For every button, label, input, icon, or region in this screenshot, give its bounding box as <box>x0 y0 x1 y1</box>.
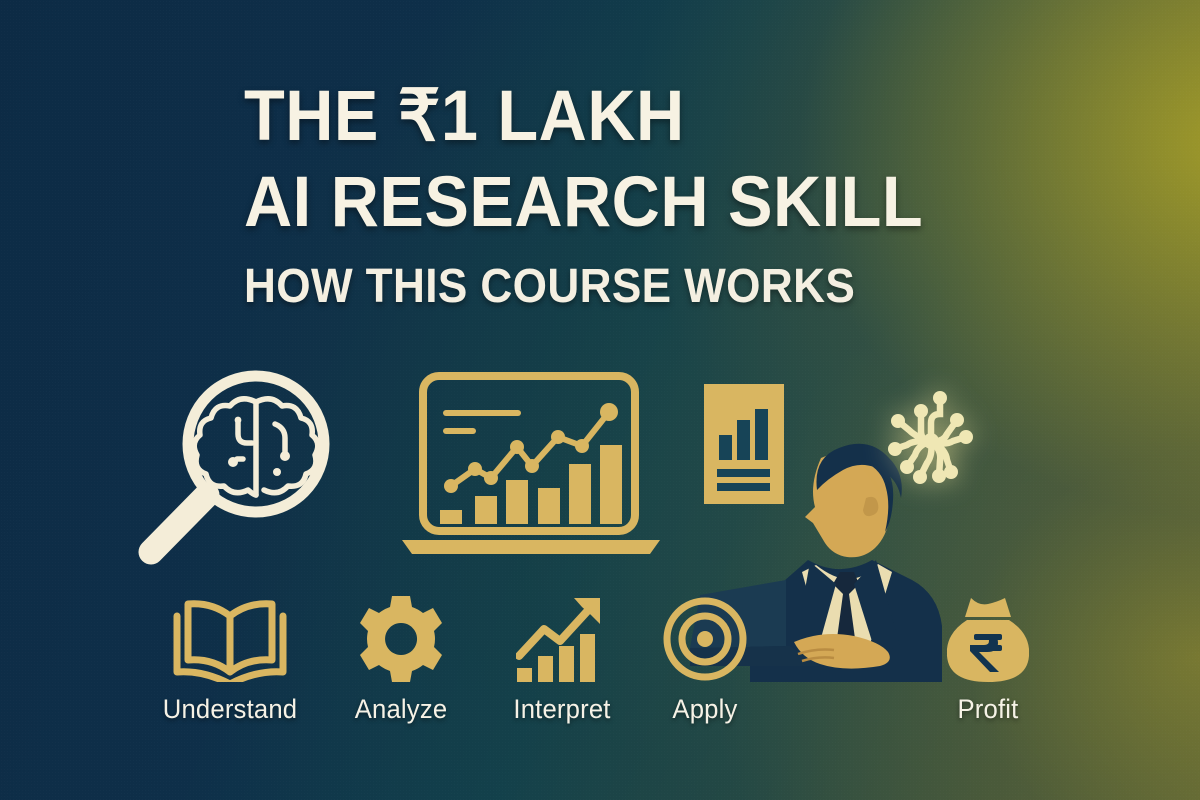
laptop-chart-icon <box>396 368 666 565</box>
step-item-understand[interactable]: Understand <box>145 596 315 725</box>
neural-net-icon <box>876 386 986 501</box>
step-item-profit[interactable]: Profit <box>903 596 1073 725</box>
poster-canvas: THE ₹1 LAKH AI RESEARCH SKILL HOW THIS C… <box>0 0 1200 800</box>
money-bag-rupee-icon <box>903 596 1073 682</box>
gear-icon <box>316 596 486 682</box>
report-doc-icon <box>703 383 785 510</box>
page-title-line-2: AI RESEARCH SKILL <box>244 168 923 238</box>
step-label-profit: Profit <box>907 694 1069 725</box>
step-item-apply[interactable]: Apply <box>620 596 790 725</box>
step-label-analyze: Analyze <box>320 694 482 725</box>
step-label-understand: Understand <box>149 694 311 725</box>
headline-block: THE ₹1 LAKH AI RESEARCH SKILL HOW THIS C… <box>244 82 967 314</box>
page-title-line-1: THE ₹1 LAKH <box>244 82 923 152</box>
open-book-icon <box>145 596 315 682</box>
page-subtitle: HOW THIS COURSE WORKS <box>244 259 909 314</box>
steps-row: Understand Analyze <box>0 596 1200 756</box>
target-icon <box>620 596 790 682</box>
step-label-apply: Apply <box>624 694 786 725</box>
step-item-analyze[interactable]: Analyze <box>316 596 486 725</box>
step-label-interpret: Interpret <box>481 694 643 725</box>
magnifier-brain-icon <box>125 362 345 572</box>
